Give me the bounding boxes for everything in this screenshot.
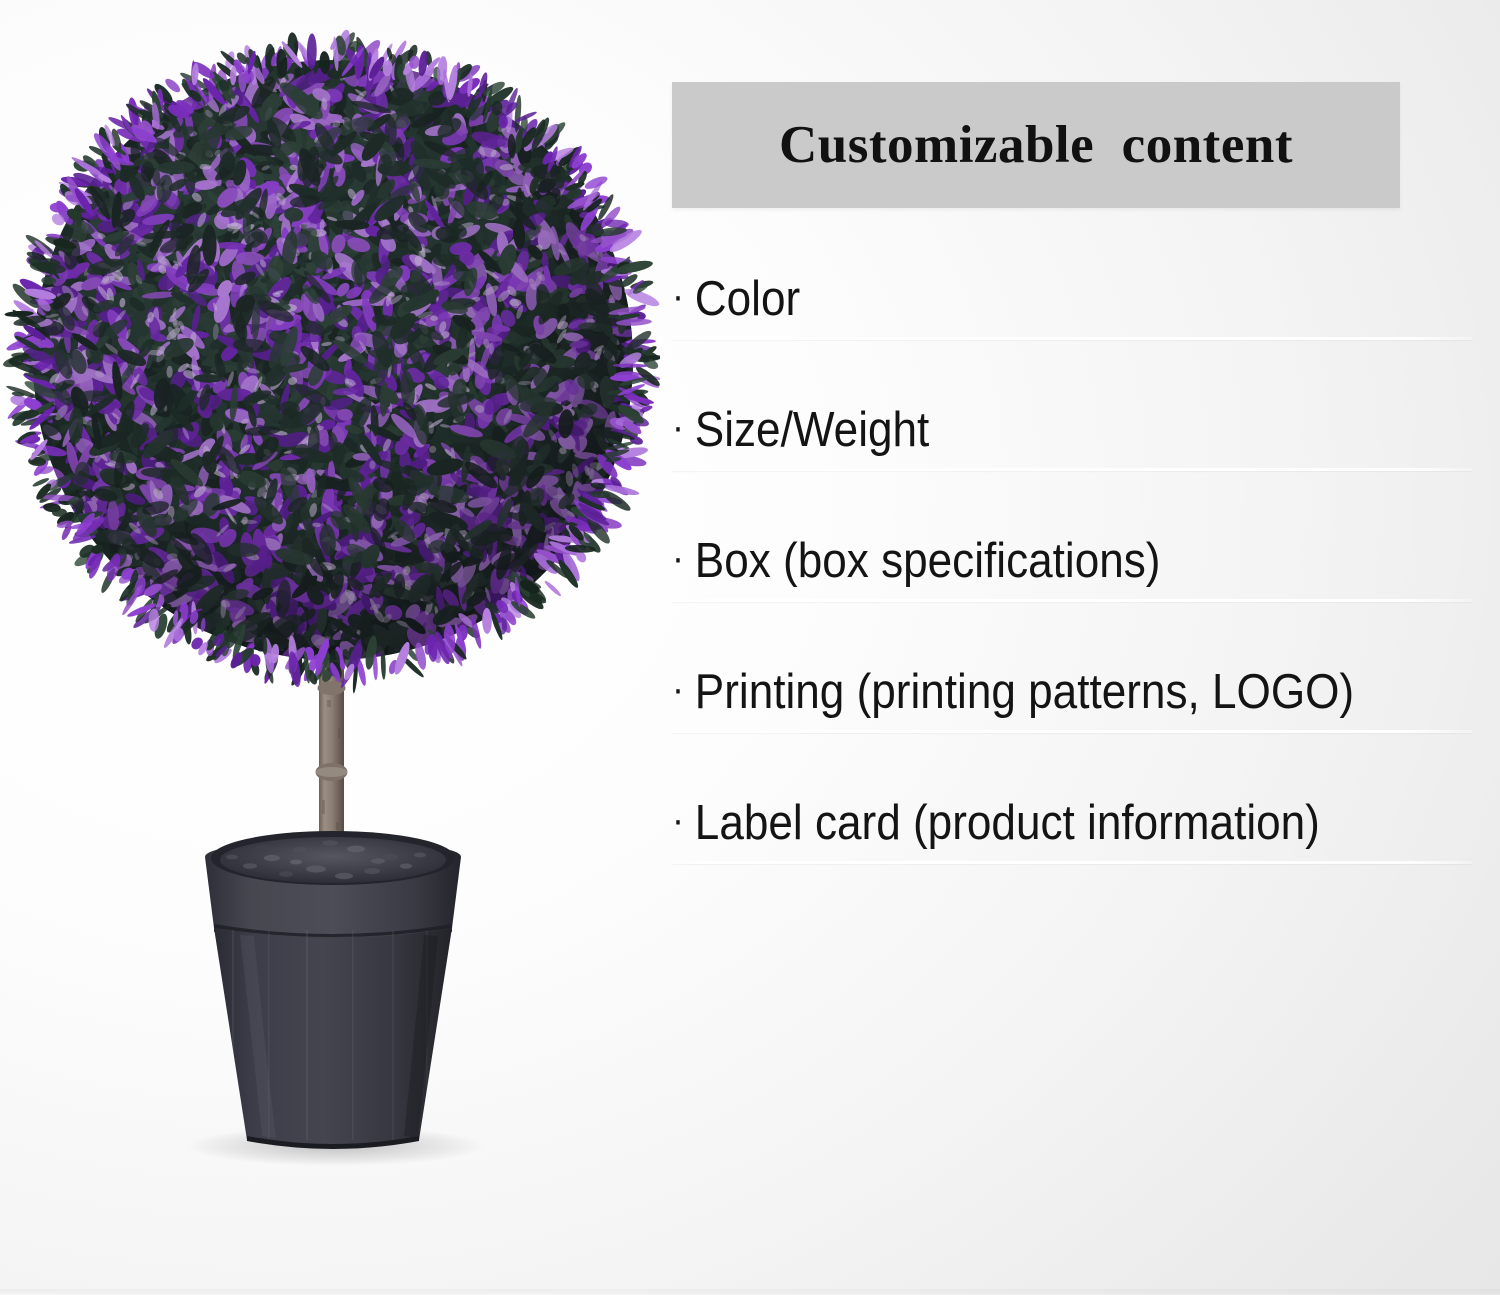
bullet-icon: · (672, 537, 684, 579)
spec-separator (672, 730, 1472, 733)
bullet-icon: · (672, 406, 684, 448)
topiary-foliage-ball (2, 28, 660, 693)
spec-separator (672, 599, 1472, 602)
infographic-canvas: Customizable content ·Color ·Size/Weight… (0, 0, 1500, 1295)
list-item[interactable]: ·Box (box specifications) (672, 520, 1472, 651)
spec-separator (672, 468, 1472, 471)
info-panel: Customizable content ·Color ·Size/Weight… (672, 0, 1500, 1295)
spec-item-label: Printing (printing patterns, LOGO) (695, 665, 1354, 719)
spec-item-label-card: ·Label card (product information) (672, 798, 1320, 849)
customizable-spec-list: ·Color ·Size/Weight ·Box (box specificat… (672, 258, 1472, 913)
spec-item-size-weight: ·Size/Weight (672, 405, 929, 456)
spec-separator (672, 861, 1472, 864)
spec-item-box: ·Box (box specifications) (672, 536, 1161, 587)
spec-item-printing: ·Printing (printing patterns, LOGO) (672, 667, 1354, 718)
title-band: Customizable content (672, 82, 1400, 208)
list-item[interactable]: ·Size/Weight (672, 389, 1472, 520)
spec-item-label: Label card (product information) (695, 796, 1320, 850)
bullet-icon: · (672, 275, 684, 317)
spec-item-label: Size/Weight (695, 403, 930, 457)
product-image (0, 0, 660, 1295)
bullet-icon: · (672, 799, 684, 841)
spec-item-color: ·Color (672, 274, 800, 325)
plant-pot (205, 831, 461, 1149)
list-item[interactable]: ·Label card (product information) (672, 782, 1472, 913)
spec-item-label: Box (box specifications) (695, 534, 1161, 588)
list-item[interactable]: ·Printing (printing patterns, LOGO) (672, 651, 1472, 782)
topiary-tree-illustration (0, 0, 660, 1295)
spec-separator (672, 337, 1472, 340)
page-title: Customizable content (779, 119, 1293, 172)
list-item[interactable]: ·Color (672, 258, 1472, 389)
bullet-icon: · (672, 668, 684, 710)
spec-item-label: Color (695, 272, 800, 326)
